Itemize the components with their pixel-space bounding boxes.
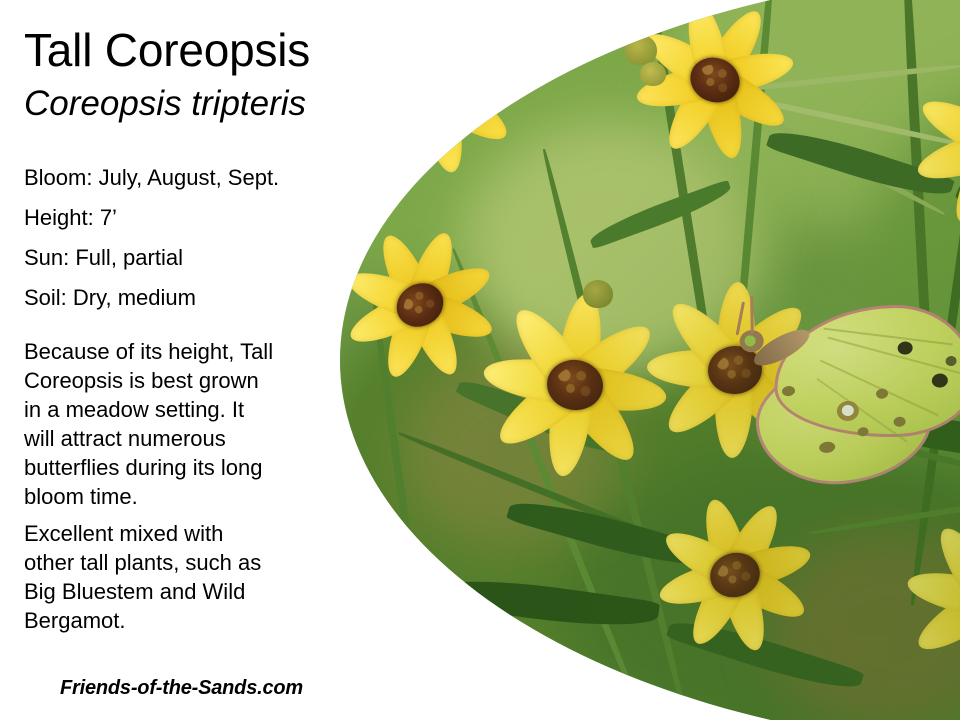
- fact-row-sun: Sun: Full, partial: [24, 238, 354, 278]
- plant-info-slide: Tall Coreopsis Coreopsis tripteris Bloom…: [0, 0, 960, 720]
- fact-row-soil: Soil: Dry, medium: [24, 278, 354, 318]
- flower-bud: [555, 665, 583, 691]
- site-credit: Friends-of-the-Sands.com: [60, 677, 303, 700]
- plant-facts-list: Bloom: July, August, Sept. Height: 7’ Su…: [24, 158, 354, 318]
- page-title: Tall Coreopsis: [24, 24, 310, 76]
- butterfly-antenna: [750, 296, 754, 334]
- paragraph-line: Coreopsis is best grown: [24, 366, 340, 395]
- text-column: Tall Coreopsis Coreopsis tripteris Bloom…: [0, 0, 360, 720]
- paragraph-line: Bergamot.: [24, 606, 340, 635]
- paragraph-line: Excellent mixed with: [24, 519, 340, 548]
- description-paragraph-1: Because of its height, Tall Coreopsis is…: [24, 337, 340, 511]
- flower-bud: [625, 35, 657, 65]
- photo-canvas: [340, 0, 960, 720]
- description-paragraph-2: Excellent mixed with other tall plants, …: [24, 519, 340, 635]
- plant-photo: [340, 0, 960, 720]
- paragraph-line: other tall plants, such as: [24, 548, 340, 577]
- paragraph-line: Because of its height, Tall: [24, 337, 340, 366]
- fact-row-height: Height: 7’: [24, 198, 354, 238]
- paragraph-line: butterflies during its long: [24, 453, 340, 482]
- butterfly: [724, 286, 960, 504]
- paragraph-line: Big Bluestem and Wild: [24, 577, 340, 606]
- paragraph-line: in a meadow setting. It: [24, 395, 340, 424]
- paragraph-line: bloom time.: [24, 482, 340, 511]
- flower-bud: [640, 62, 666, 86]
- scientific-name: Coreopsis tripteris: [24, 84, 306, 124]
- paragraph-line: will attract numerous: [24, 424, 340, 453]
- butterfly-forewing: [773, 304, 960, 440]
- flower-bud: [583, 280, 613, 308]
- fact-row-bloom: Bloom: July, August, Sept.: [24, 158, 354, 198]
